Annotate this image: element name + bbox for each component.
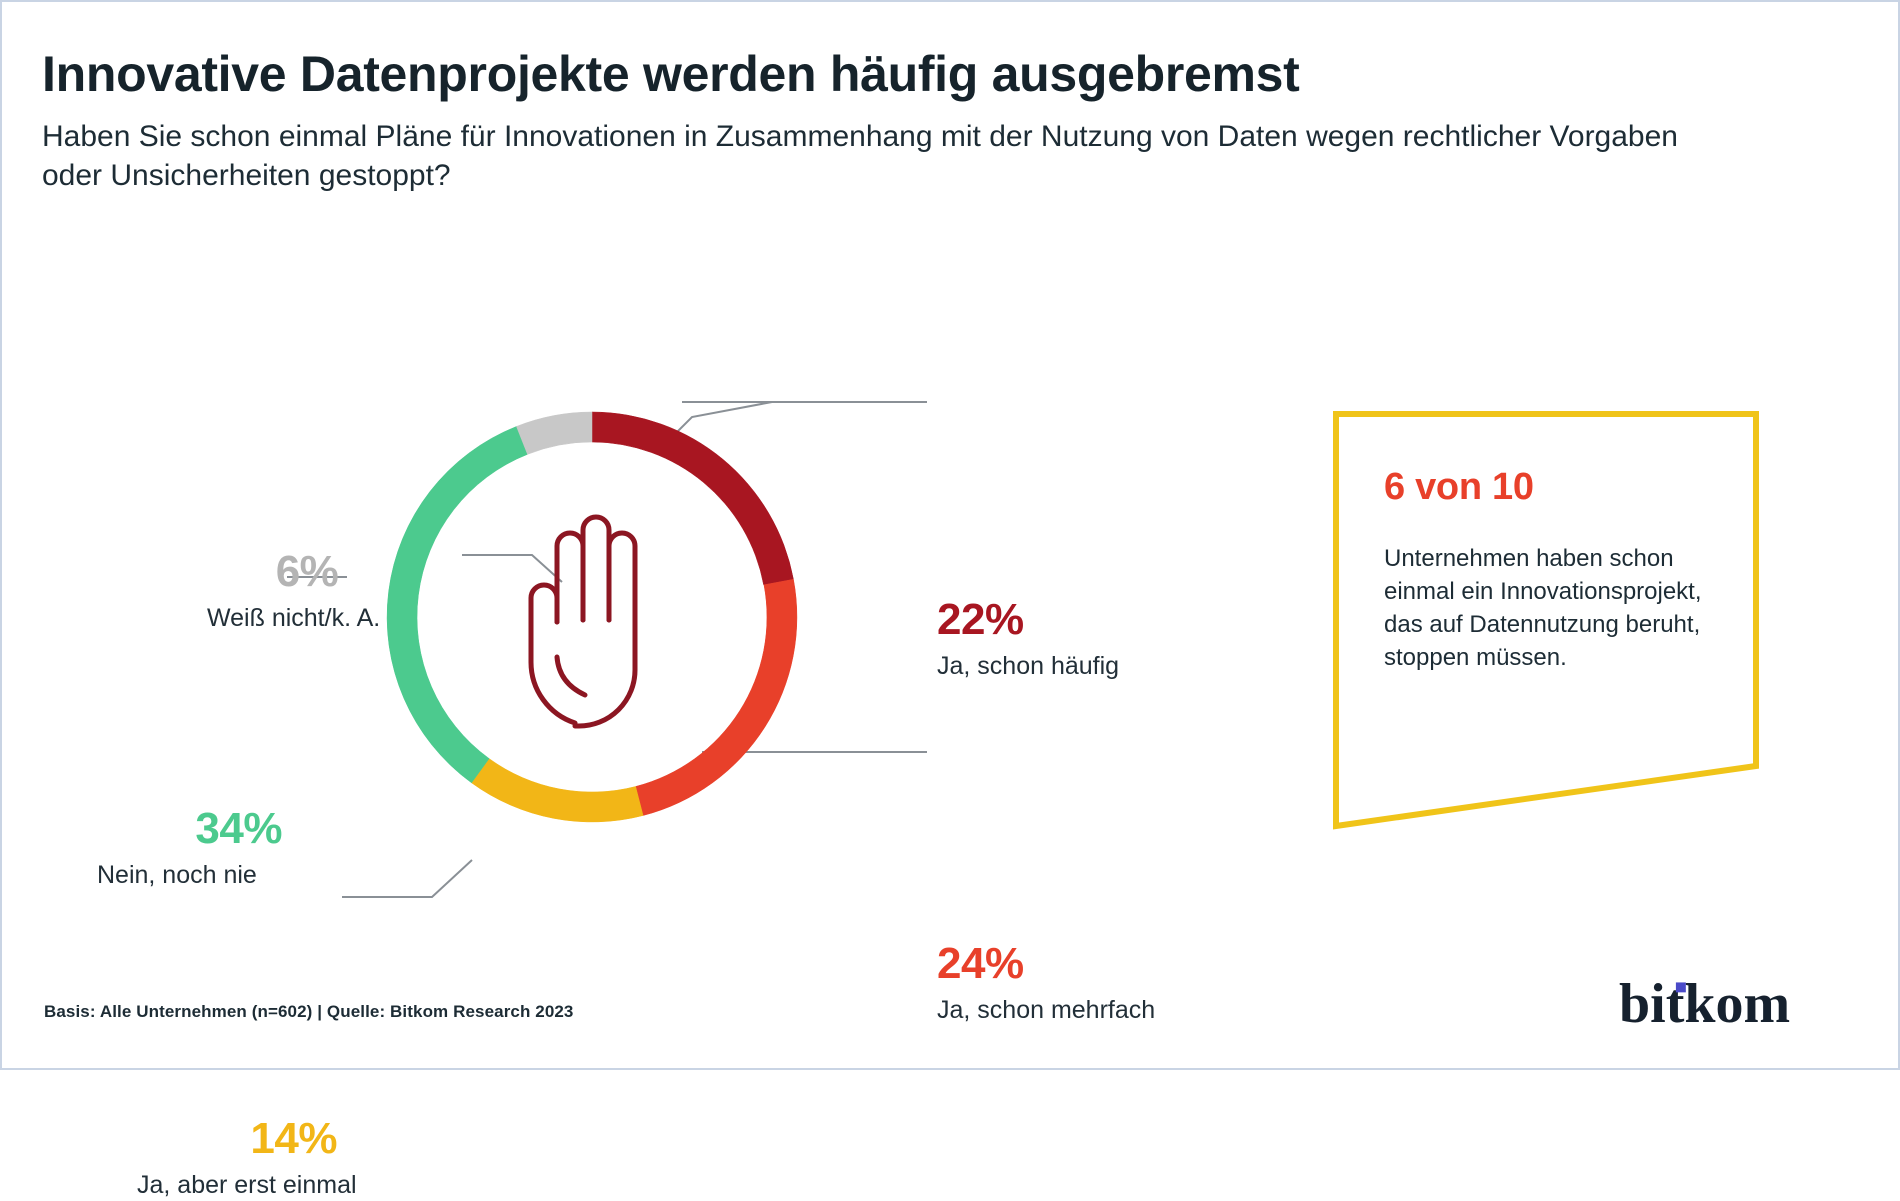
chart-area: 6% Weiß nicht/k. A. 22% Ja, schon häufig… — [2, 252, 1182, 972]
callout-ja-haeufig: 22% Ja, schon häufig — [937, 598, 1119, 682]
bitkom-logo-text: bitkom — [1619, 977, 1790, 1033]
bitkom-logo-dot — [1676, 982, 1686, 992]
stop-hand-icon — [512, 502, 672, 732]
page-title: Innovative Datenprojekte werden häufig a… — [42, 48, 1802, 101]
highlight-box-content: 6 von 10 Unternehmen haben schon einmal … — [1384, 468, 1714, 674]
highlight-box: 6 von 10 Unternehmen haben schon einmal … — [1332, 410, 1760, 830]
callout-label-ja-mehrfach: Ja, schon mehrfach — [937, 995, 1155, 1026]
callout-label-ja-haeufig: Ja, schon häufig — [937, 651, 1119, 682]
callout-value-weiss-nicht: 6% — [207, 550, 407, 594]
callout-value-ja-haeufig: 22% — [937, 598, 1119, 642]
highlight-body: Unternehmen haben schon einmal ein Innov… — [1384, 542, 1714, 674]
callout-weiss-nicht: 6% Weiß nicht/k. A. — [207, 550, 407, 634]
callout-ja-einmal: 14% Ja, aber erst einmal — [137, 1117, 357, 1201]
callout-value-ja-mehrfach: 24% — [937, 942, 1155, 986]
callout-ja-mehrfach: 24% Ja, schon mehrfach — [937, 942, 1155, 1026]
donut-segment-nein[interactable] — [387, 426, 527, 782]
callout-label-ja-einmal: Ja, aber erst einmal — [137, 1170, 357, 1201]
bitkom-logo: bitkom — [1619, 977, 1854, 1033]
donut-segment-ja-einmal[interactable] — [472, 759, 644, 822]
source-note: Basis: Alle Unternehmen (n=602) | Quelle… — [44, 1002, 574, 1022]
infographic-page: Innovative Datenprojekte werden häufig a… — [0, 0, 1900, 1070]
donut-segment-weiss-nicht[interactable] — [516, 412, 592, 454]
highlight-headline: 6 von 10 — [1384, 468, 1714, 508]
callout-value-nein: 34% — [97, 807, 282, 851]
donut-chart — [342, 367, 842, 867]
header: Innovative Datenprojekte werden häufig a… — [42, 48, 1802, 195]
callout-label-nein: Nein, noch nie — [97, 860, 282, 891]
callout-value-ja-einmal: 14% — [137, 1117, 337, 1161]
page-subtitle: Haben Sie schon einmal Pläne für Innovat… — [42, 117, 1742, 195]
callout-nein: 34% Nein, noch nie — [97, 807, 282, 891]
callout-label-weiss-nicht: Weiß nicht/k. A. — [207, 603, 407, 634]
